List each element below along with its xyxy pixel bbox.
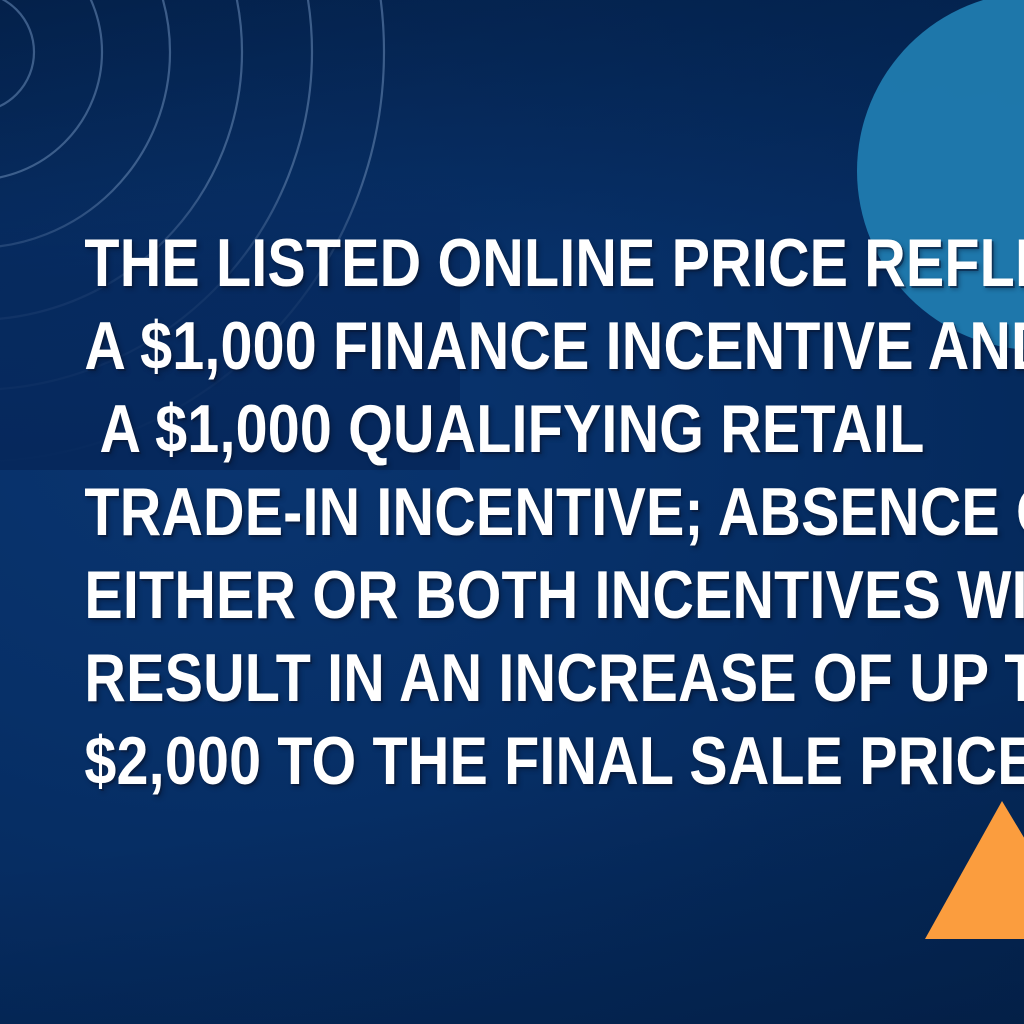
- disclaimer-line-7: $2,000 TO THE FINAL SALE PRICE.: [84, 720, 939, 803]
- disclaimer-text: THE LISTED ONLINE PRICE REFLECTS A $1,00…: [0, 222, 1024, 803]
- promo-banner: THE LISTED ONLINE PRICE REFLECTS A $1,00…: [0, 0, 1024, 1024]
- disclaimer-line-5: EITHER OR BOTH INCENTIVES WILL: [84, 554, 939, 637]
- disclaimer-line-6: RESULT IN AN INCREASE OF UP TO: [84, 637, 939, 720]
- orange-triangle-decoration: [925, 801, 1024, 939]
- disclaimer-line-3: A $1,000 QUALIFYING RETAIL: [84, 388, 939, 471]
- disclaimer-line-1: THE LISTED ONLINE PRICE REFLECTS: [84, 222, 939, 305]
- disclaimer-line-4: TRADE-IN INCENTIVE; ABSENCE OF: [84, 471, 939, 554]
- disclaimer-line-2: A $1,000 FINANCE INCENTIVE AND: [84, 305, 939, 388]
